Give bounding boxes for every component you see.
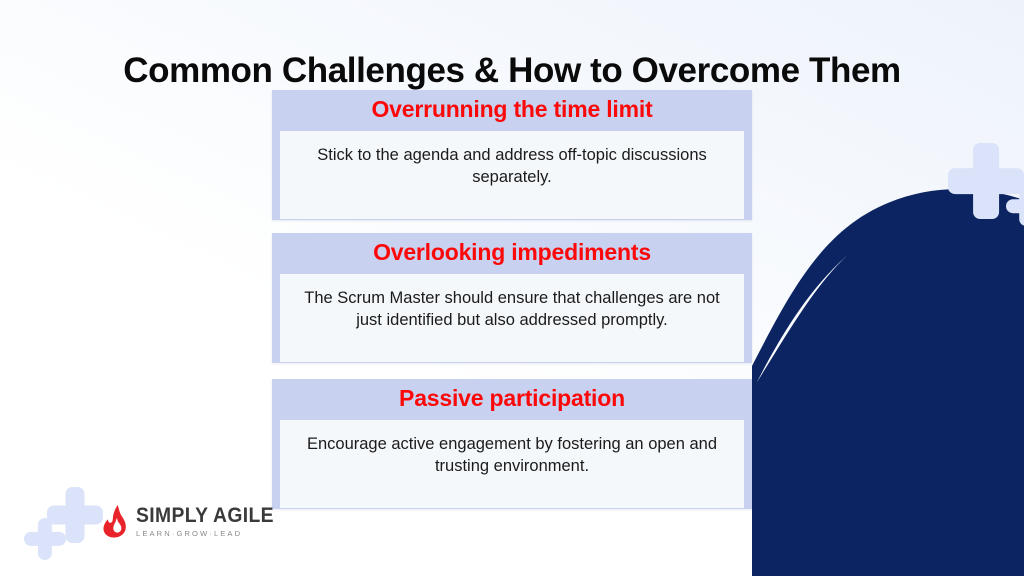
slide-canvas: Common Challenges & How to Overcome Them… <box>0 0 1024 576</box>
plus-bar-vertical <box>1019 186 1024 226</box>
plus-bar-horizontal <box>948 168 1024 194</box>
brand-logo: SIMPLY AGILE LEARN·GROW·LEAD <box>101 504 286 538</box>
challenge-card-body: Stick to the agenda and address off-topi… <box>280 131 744 219</box>
challenge-card-title: Overlooking impediments <box>272 233 752 274</box>
plus-bar-vertical <box>38 518 52 560</box>
challenge-card-title: Passive participation <box>272 379 752 420</box>
challenge-card-body: The Scrum Master should ensure that chal… <box>280 274 744 362</box>
logo-wordmark: SIMPLY AGILE <box>136 505 274 526</box>
challenge-card-title: Overrunning the time limit <box>272 90 752 131</box>
plus-bar-horizontal <box>47 505 103 524</box>
plus-bar-horizontal <box>24 532 66 546</box>
logo-tagline: LEARN·GROW·LEAD <box>136 530 286 538</box>
flame-icon <box>101 504 131 538</box>
challenge-card: Overrunning the time limit Stick to the … <box>272 90 752 220</box>
plus-bar-vertical <box>65 487 84 543</box>
challenge-card: Passive participation Encourage active e… <box>272 379 752 509</box>
page-title: Common Challenges & How to Overcome Them <box>0 51 1024 91</box>
plus-decoration-icon <box>24 518 66 560</box>
plus-decoration-icon <box>47 487 103 543</box>
challenge-card: Overlooking impediments The Scrum Master… <box>272 233 752 363</box>
plus-decoration-icon <box>1006 186 1024 226</box>
challenge-card-body: Encourage active engagement by fostering… <box>280 420 744 508</box>
plus-bar-vertical <box>973 143 999 219</box>
plus-decoration-icon <box>948 143 1024 219</box>
plus-bar-horizontal <box>1006 199 1024 213</box>
logo-text-block: SIMPLY AGILE LEARN·GROW·LEAD <box>136 505 286 538</box>
